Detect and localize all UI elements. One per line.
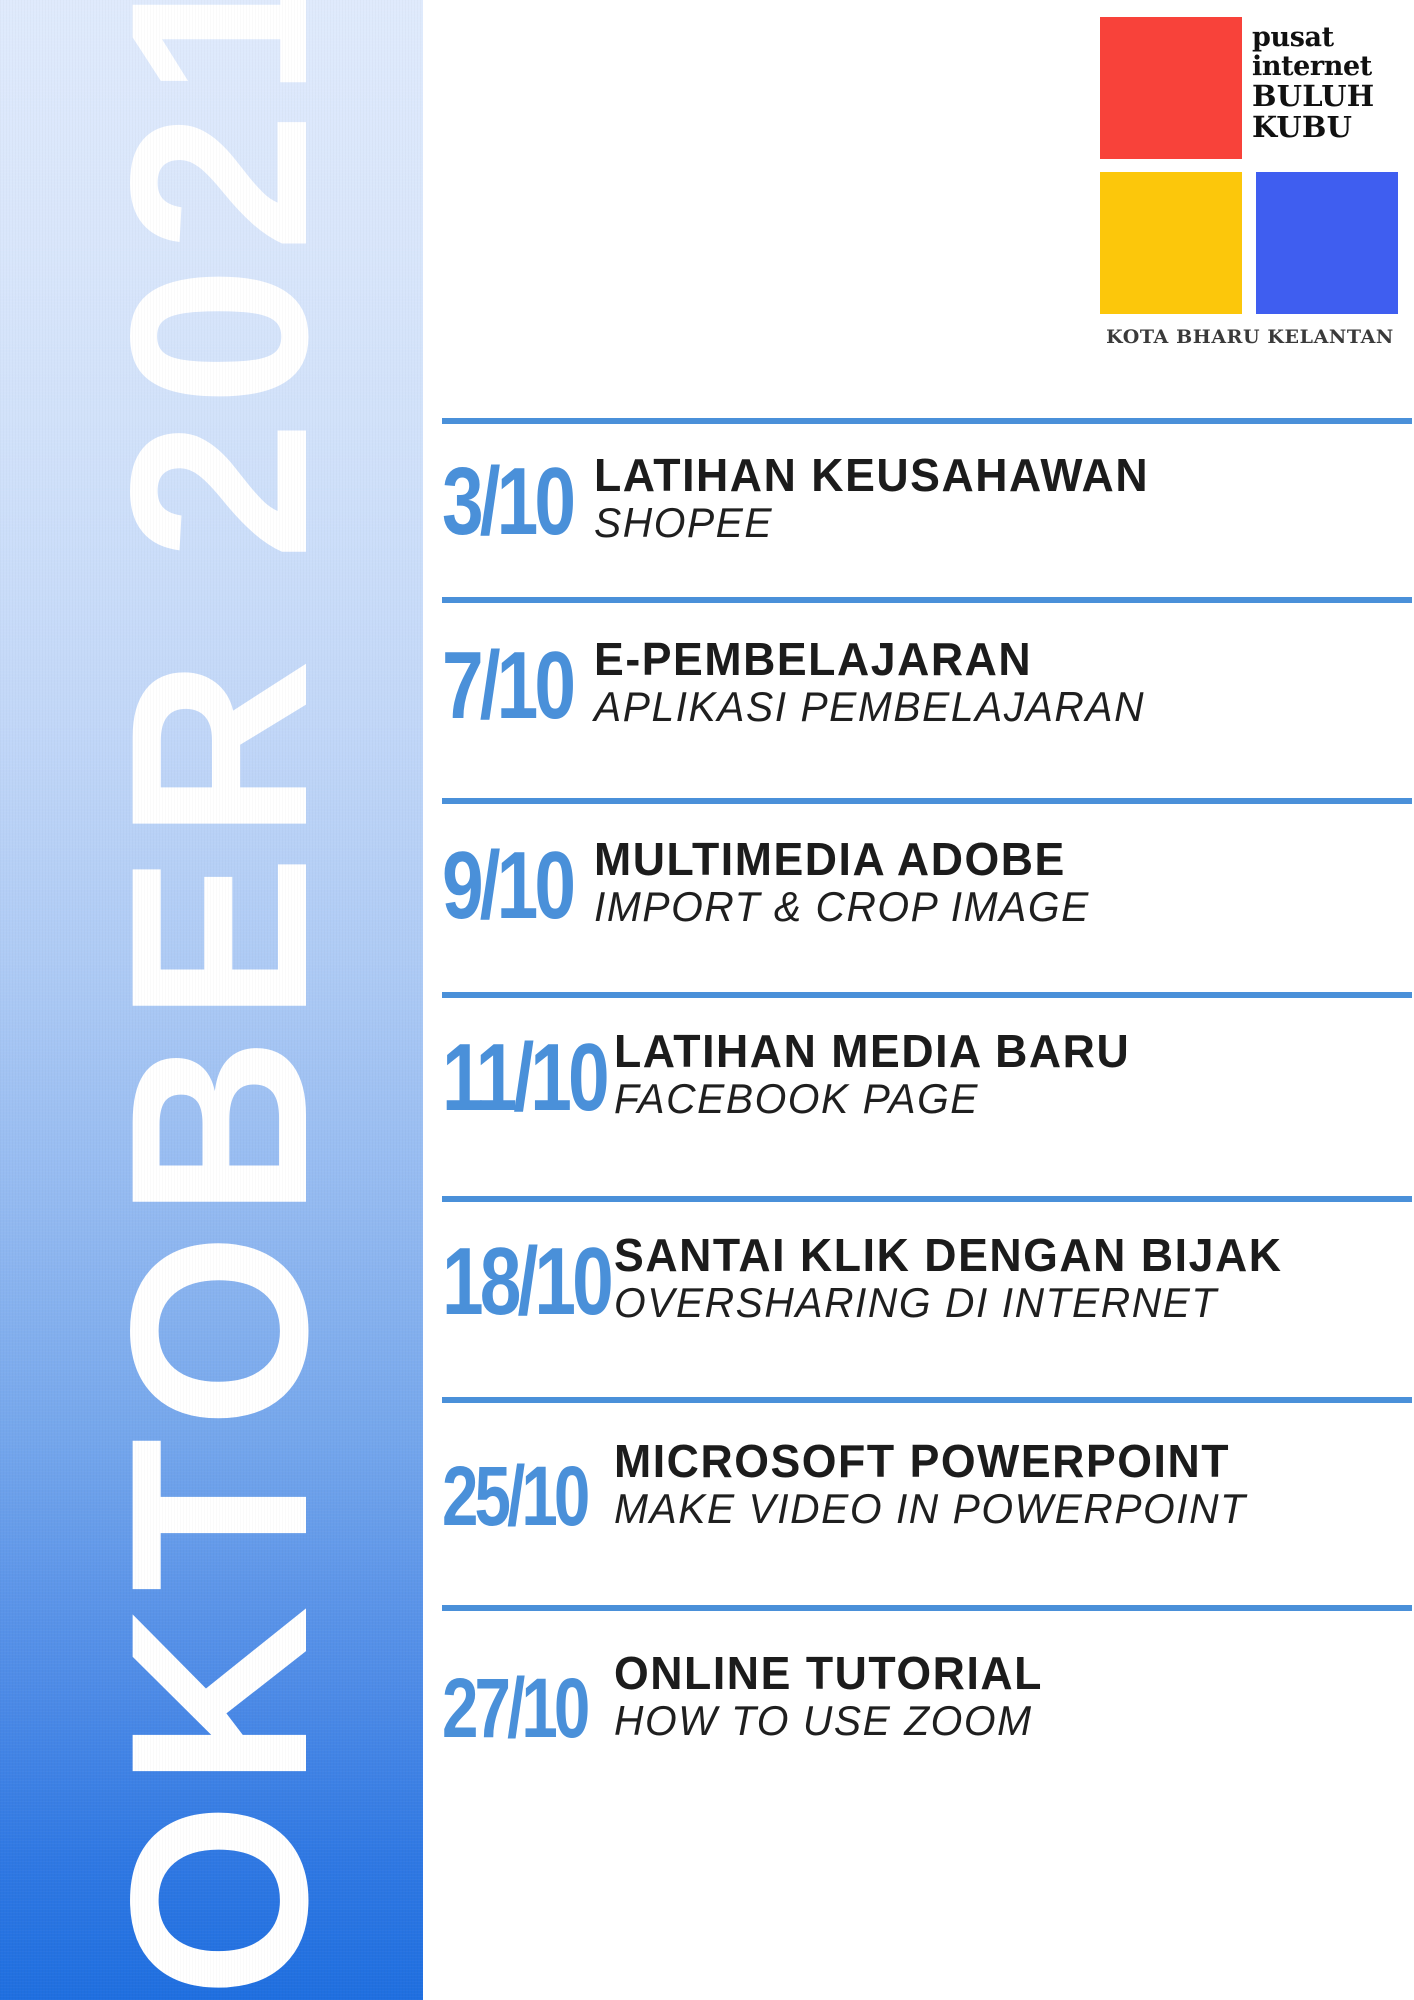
schedule-divider (442, 1397, 1412, 1403)
event-title: SANTAI KLIK DENGAN BIJAK (614, 1232, 1388, 1279)
schedule-divider (442, 597, 1412, 603)
event-text-block: LATIHAN MEDIA BARU FACEBOOK PAGE (614, 1028, 1412, 1121)
schedule-divider (442, 992, 1412, 998)
event-date: 7/10 (442, 636, 561, 730)
event-text-block: ONLINE TUTORIAL HOW TO USE ZOOM (614, 1650, 1412, 1743)
sidebar-gradient-panel: OKTOBER 2021 (0, 0, 423, 2000)
event-date: 3/10 (442, 452, 561, 546)
schedule-event-row: 27/10 ONLINE TUTORIAL HOW TO USE ZOOM (442, 1650, 1412, 1747)
event-title: LATIHAN MEDIA BARU (614, 1028, 1388, 1075)
event-text-block: LATIHAN KEUSAHAWAN SHOPEE (594, 452, 1412, 545)
schedule-event-row: 7/10 E-PEMBELAJARAN APLIKASI PEMBELAJARA… (442, 636, 1412, 730)
month-year-title: OKTOBER 2021 (70, 178, 370, 2000)
event-title: MICROSOFT POWERPOINT (614, 1438, 1388, 1485)
event-title: ONLINE TUTORIAL (614, 1650, 1388, 1697)
event-subtitle: SHOPEE (594, 501, 1387, 545)
poster-root: OKTOBER 2021 pusat internet BULUH KUBU K… (0, 0, 1414, 2000)
event-date: 11/10 (442, 1028, 576, 1122)
schedule-divider (442, 798, 1412, 804)
schedule-list: 3/10 LATIHAN KEUSAHAWAN SHOPEE 7/10 E-PE… (442, 0, 1412, 2000)
schedule-divider (442, 1605, 1412, 1611)
event-subtitle: IMPORT & CROP IMAGE (594, 885, 1387, 929)
event-text-block: E-PEMBELAJARAN APLIKASI PEMBELAJARAN (594, 636, 1412, 729)
event-subtitle: FACEBOOK PAGE (614, 1077, 1388, 1121)
event-text-block: MULTIMEDIA ADOBE IMPORT & CROP IMAGE (594, 836, 1412, 929)
schedule-event-row: 11/10 LATIHAN MEDIA BARU FACEBOOK PAGE (442, 1028, 1412, 1122)
event-subtitle: APLIKASI PEMBELAJARAN (594, 685, 1387, 729)
schedule-event-row: 9/10 MULTIMEDIA ADOBE IMPORT & CROP IMAG… (442, 836, 1412, 930)
event-date: 27/10 (442, 1650, 576, 1747)
event-title: MULTIMEDIA ADOBE (594, 836, 1387, 883)
event-date: 18/10 (442, 1232, 576, 1326)
schedule-divider (442, 1196, 1412, 1202)
event-text-block: SANTAI KLIK DENGAN BIJAK OVERSHARING DI … (614, 1232, 1412, 1325)
event-subtitle: MAKE VIDEO IN POWERPOINT (614, 1487, 1388, 1531)
schedule-event-row: 3/10 LATIHAN KEUSAHAWAN SHOPEE (442, 452, 1412, 546)
schedule-event-row: 18/10 SANTAI KLIK DENGAN BIJAK OVERSHARI… (442, 1232, 1412, 1326)
event-subtitle: HOW TO USE ZOOM (614, 1699, 1388, 1743)
schedule-event-row: 25/10 MICROSOFT POWERPOINT MAKE VIDEO IN… (442, 1438, 1412, 1535)
event-title: LATIHAN KEUSAHAWAN (594, 452, 1387, 499)
schedule-divider (442, 418, 1412, 424)
event-date: 9/10 (442, 836, 561, 930)
event-text-block: MICROSOFT POWERPOINT MAKE VIDEO IN POWER… (614, 1438, 1412, 1531)
event-subtitle: OVERSHARING DI INTERNET (614, 1281, 1388, 1325)
event-date: 25/10 (442, 1438, 576, 1535)
event-title: E-PEMBELAJARAN (594, 636, 1387, 683)
